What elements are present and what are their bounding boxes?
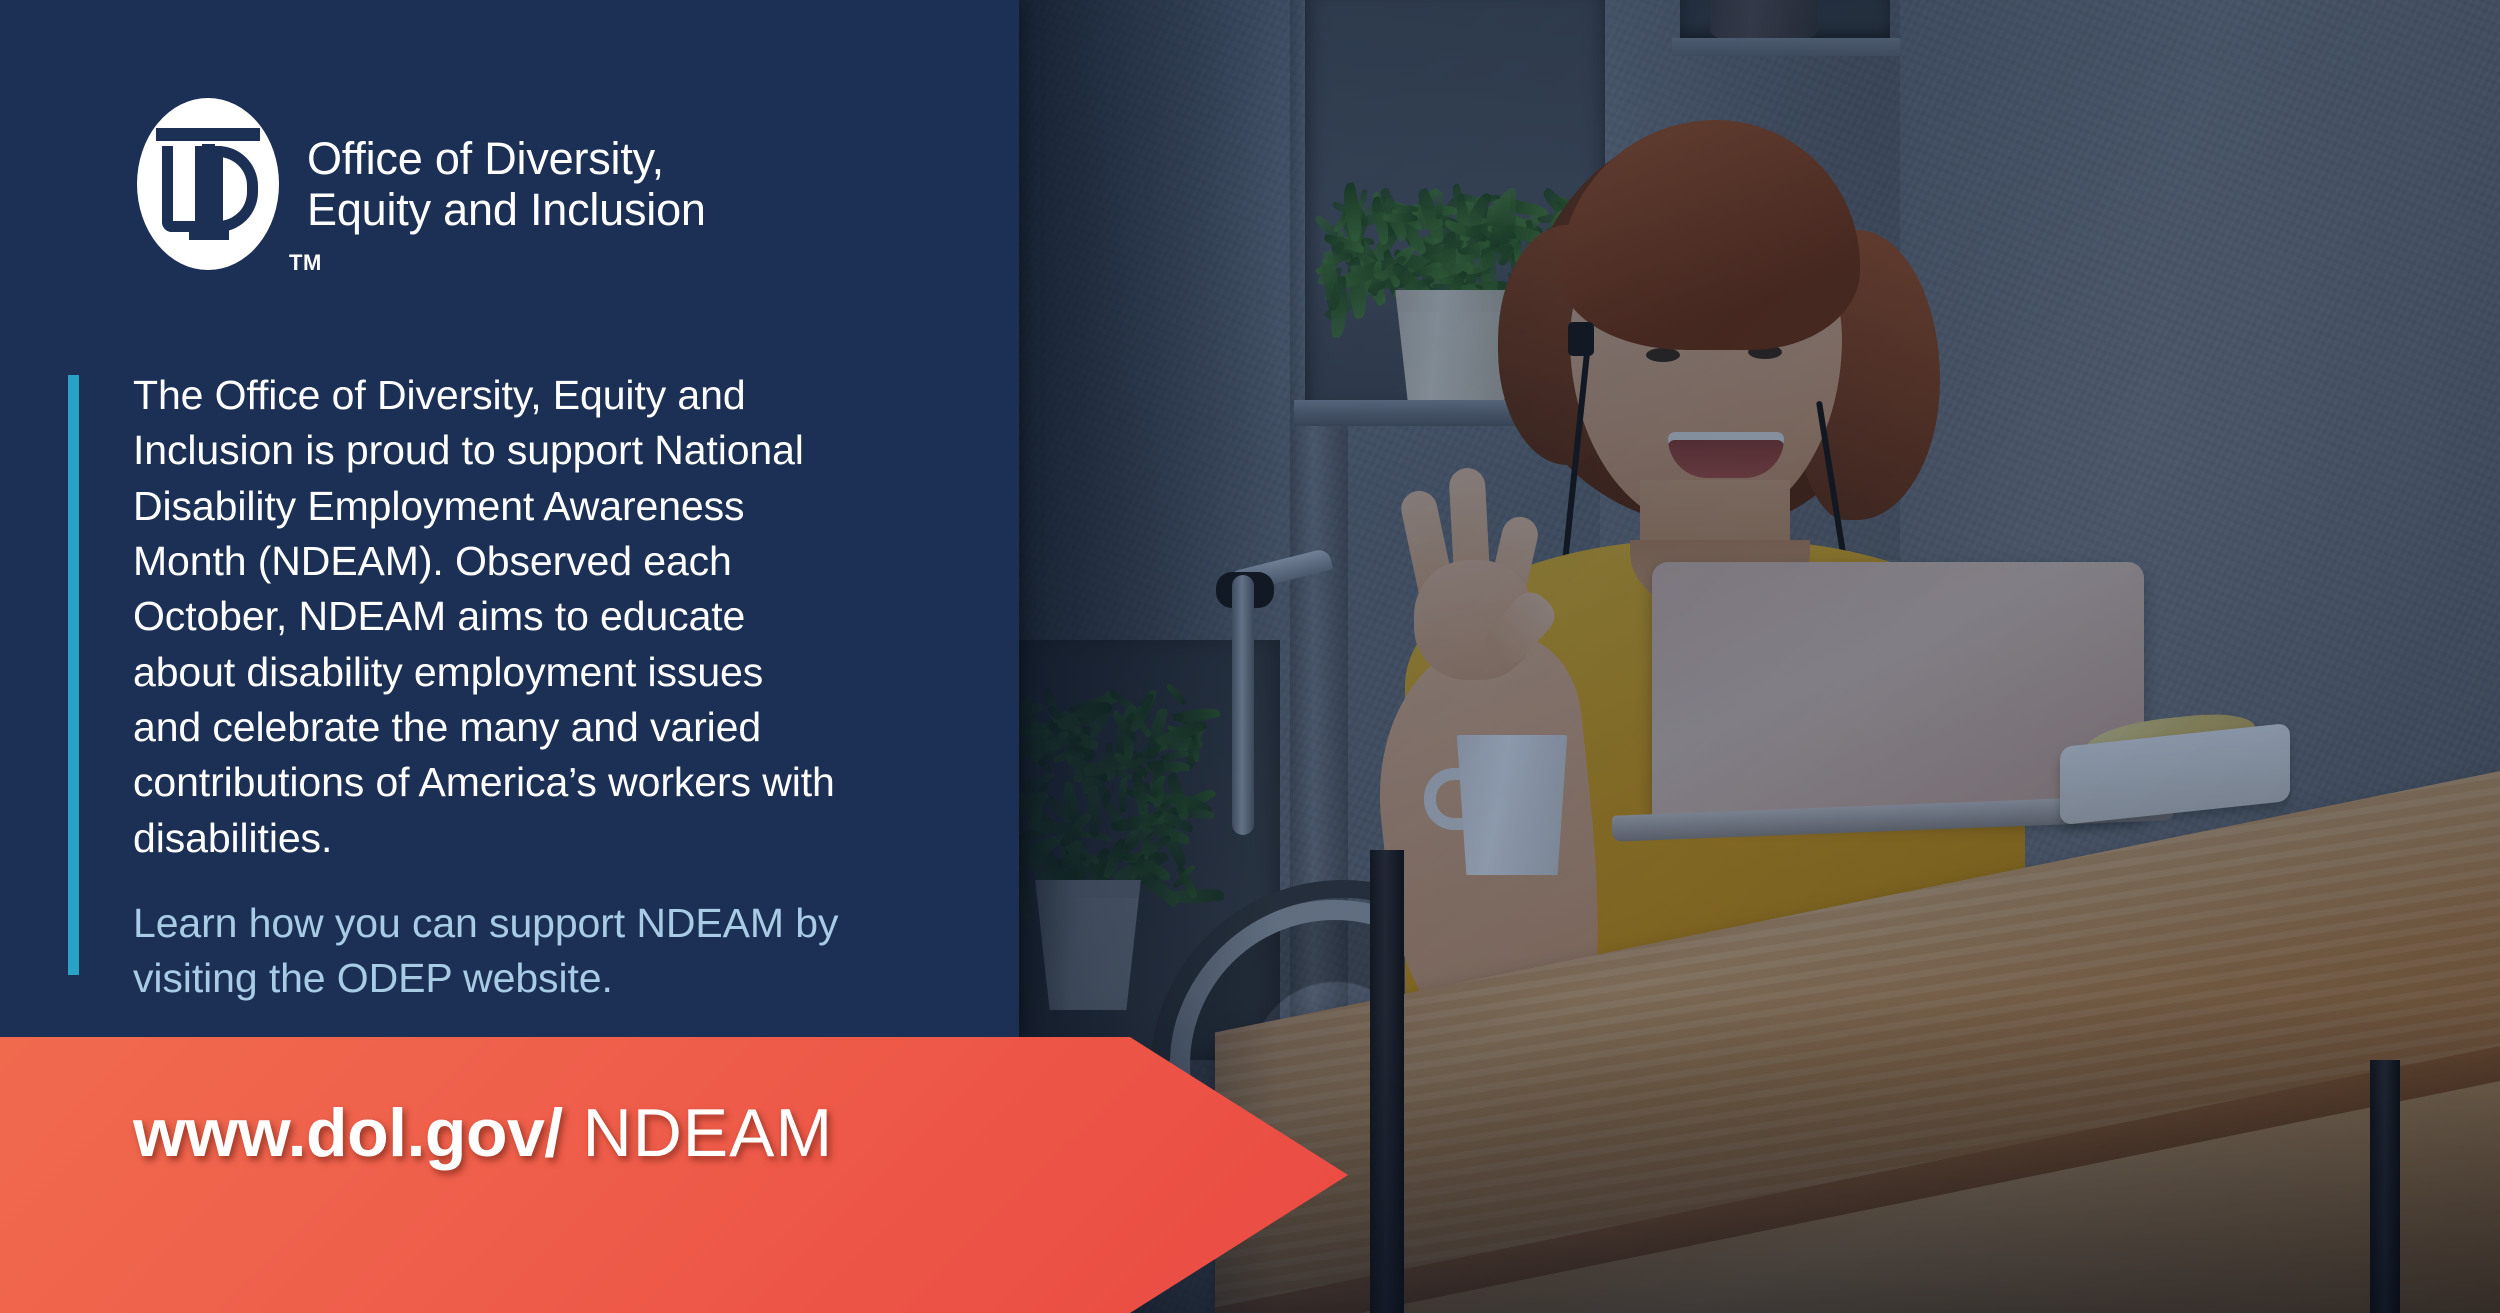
content-panel: TM Office of Diversity, Equity and Inclu… [0, 0, 1019, 1037]
orange-arrow-banner [0, 1037, 1348, 1313]
trademark-symbol: TM [289, 250, 322, 276]
url-path: NDEAM [563, 1095, 833, 1171]
logo-top-bar [156, 128, 260, 141]
utd-monogram-icon: TM [137, 98, 279, 270]
url-domain: www.dol.gov/ [133, 1095, 563, 1171]
body-paragraph: The Office of Diversity, Equity and Incl… [133, 368, 923, 866]
odei-logo[interactable]: TM Office of Diversity, Equity and Inclu… [137, 98, 706, 270]
ndeam-promotional-banner: TM Office of Diversity, Equity and Inclu… [0, 0, 2500, 1313]
teal-accent-bar [68, 375, 79, 975]
logo-letter-d [212, 146, 258, 232]
copy-block: The Office of Diversity, Equity and Incl… [133, 368, 923, 1007]
logo-letterforms [156, 128, 260, 240]
logo-letter-t-foot [189, 229, 229, 240]
logo-letter-u [162, 146, 206, 232]
logo-letter-t-stem [202, 144, 215, 240]
dol-url-callout[interactable]: www.dol.gov/ NDEAM [133, 1094, 833, 1172]
odep-link-text[interactable]: Learn how you can support NDEAM by visit… [133, 896, 923, 1007]
logo-wordmark: Office of Diversity, Equity and Inclusio… [307, 133, 706, 236]
